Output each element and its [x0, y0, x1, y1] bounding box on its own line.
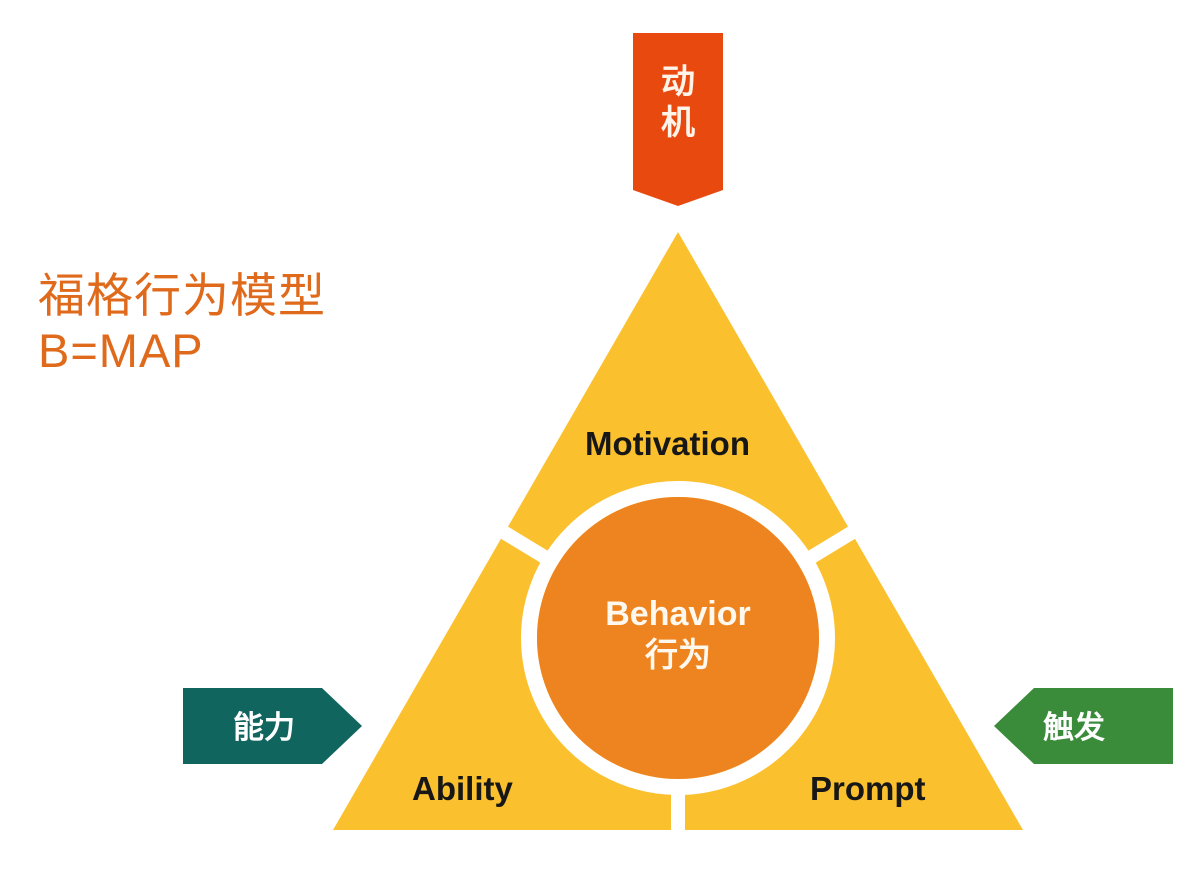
- motivation-banner-char-1: 动: [633, 62, 723, 103]
- title-line-en: B=MAP: [38, 323, 326, 378]
- prompt-arrow-label: 触发: [1043, 702, 1105, 747]
- motivation-banner-char-2: 机: [633, 103, 723, 144]
- triangle-label-motivation: Motivation: [585, 425, 750, 463]
- diagram-canvas: 福格行为模型 B=MAP 动 机 Motivation Ability Prom…: [0, 0, 1200, 871]
- ability-arrow-label: 能力: [233, 702, 295, 747]
- triangle-label-ability: Ability: [412, 770, 513, 808]
- triangle-label-prompt: Prompt: [810, 770, 926, 808]
- motivation-banner-label: 动 机: [633, 62, 723, 144]
- title-line-cn: 福格行为模型: [38, 268, 326, 323]
- page-title: 福格行为模型 B=MAP: [38, 268, 326, 379]
- center-circle: [537, 497, 819, 779]
